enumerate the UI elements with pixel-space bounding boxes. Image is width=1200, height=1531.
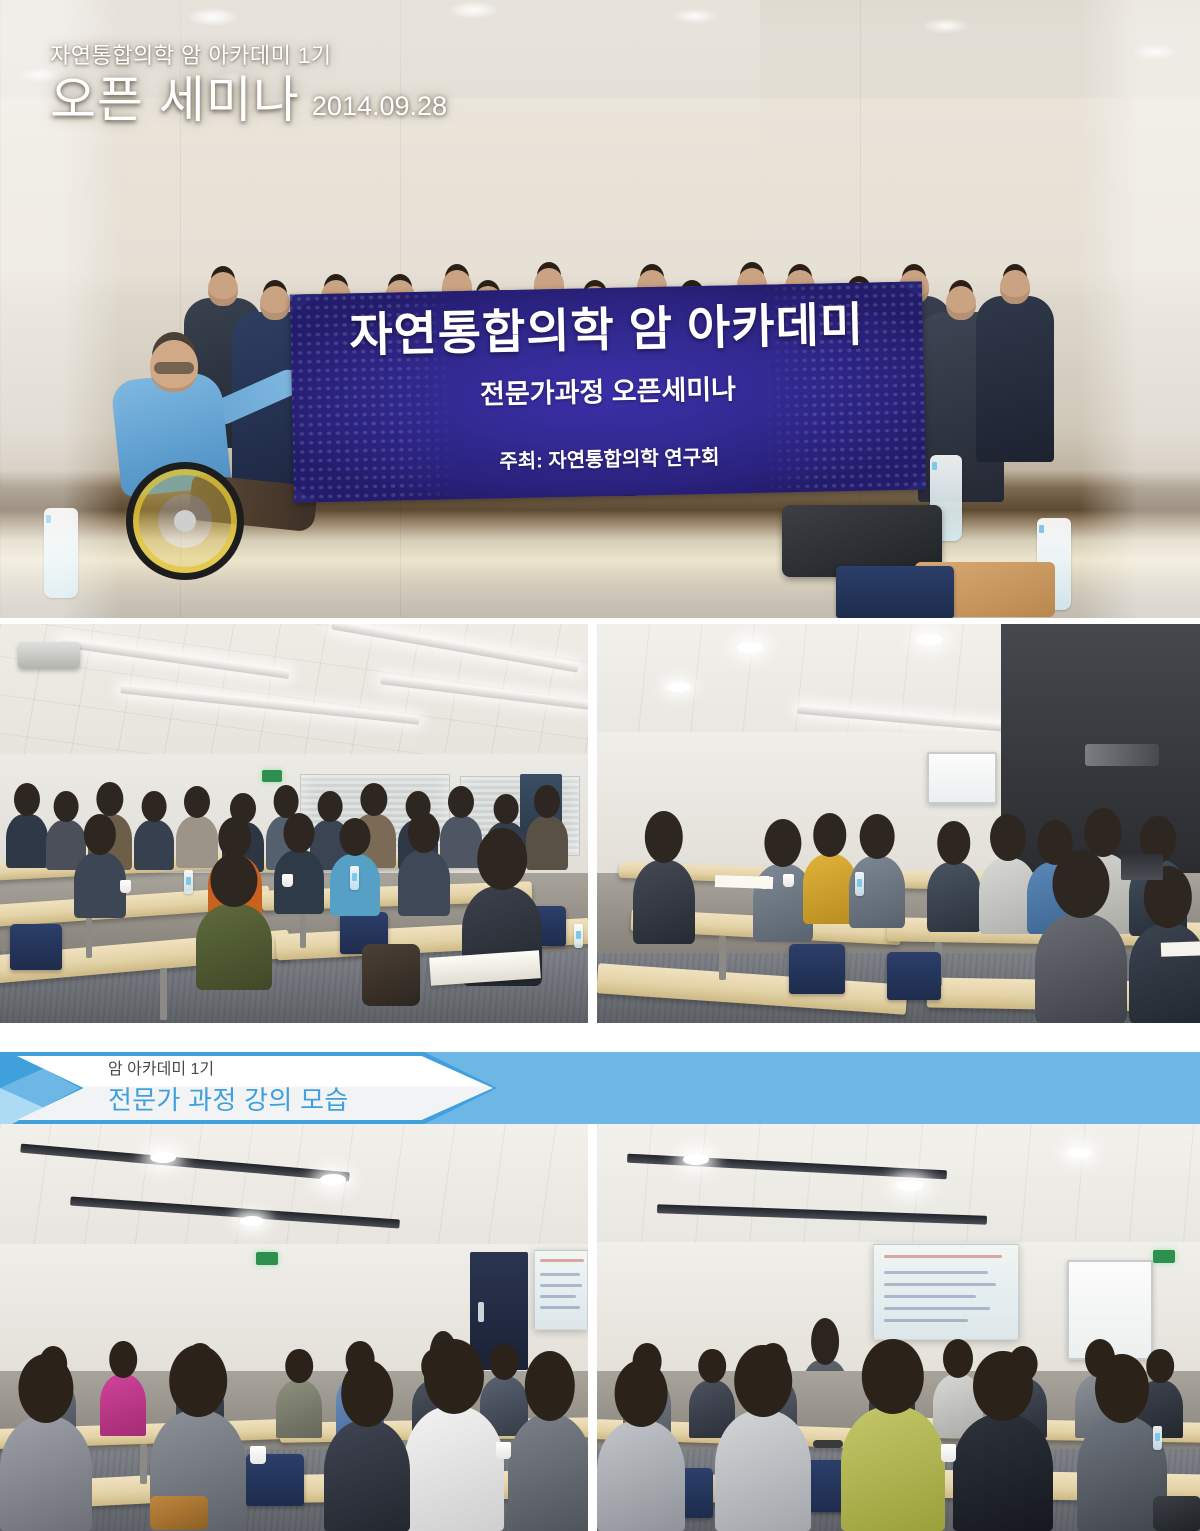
- photo-row-2: [0, 624, 1200, 1023]
- desk-leg: [140, 1444, 147, 1484]
- desk-leg: [86, 916, 92, 958]
- ceiling-downlight: [683, 1154, 709, 1165]
- photo-audience-right: [597, 624, 1200, 1023]
- exit-sign: [1153, 1250, 1175, 1263]
- notebook: [715, 875, 773, 889]
- projector: [18, 642, 80, 668]
- banner-subtitle: 전문가과정 오픈세미나: [480, 367, 737, 411]
- wheelchair-wheel: [126, 462, 244, 580]
- backpack: [362, 944, 420, 1006]
- slide-line: [540, 1295, 576, 1298]
- attendee-in-wheelchair: [104, 330, 304, 600]
- water-bottle: [350, 866, 359, 890]
- wall-logo: [1085, 744, 1159, 766]
- slide-line: [540, 1284, 582, 1287]
- divider-kicker: 암 아카데미 1기: [108, 1061, 349, 1079]
- paper-cup: [941, 1444, 956, 1462]
- hero-photo-group: 자연통합의학 암 아카데미 전문가과정 오픈세미나 주최: 자연통합의학 연구회…: [0, 0, 1200, 618]
- audience-member-foreground: [597, 1420, 685, 1531]
- divider-text-block: 암 아카데미 1기 전문가 과정 강의 모습: [108, 1052, 349, 1124]
- audience-member-foreground: [1035, 914, 1127, 1023]
- chair: [887, 952, 941, 1000]
- ceiling-downlight: [150, 1152, 176, 1163]
- exit-sign: [256, 1252, 278, 1265]
- slide-line: [540, 1259, 584, 1262]
- handbag: [150, 1496, 208, 1530]
- banner-host: 주최: 자연통합의학 연구회: [499, 441, 720, 475]
- notebook: [1161, 941, 1200, 957]
- chair: [10, 924, 62, 970]
- ceiling-downlight: [917, 634, 943, 645]
- audience-member-foreground: [953, 1414, 1053, 1531]
- desk-leg: [300, 912, 306, 948]
- ceiling-downlight: [737, 642, 763, 653]
- door-handle: [478, 1302, 484, 1322]
- paper-cup: [120, 880, 131, 893]
- audience-member: [100, 1374, 146, 1436]
- paper-cup: [282, 874, 293, 887]
- divider-title: 전문가 과정 강의 모습: [108, 1086, 349, 1115]
- audience-member-foreground: [715, 1410, 811, 1531]
- photo-lecture-right: [597, 1124, 1200, 1531]
- event-date: 2014.09.28: [312, 91, 447, 127]
- audience-member: [927, 862, 981, 932]
- hero-title-block: 자연통합의학 암 아카데미 1기 오픈 세미나 2014.09.28: [50, 44, 447, 127]
- paper-cup: [250, 1446, 266, 1464]
- audience-member-foreground: [841, 1406, 945, 1531]
- audience-member-foreground: [508, 1414, 588, 1531]
- audience-member-foreground: [404, 1406, 504, 1531]
- audience-member: [633, 860, 695, 944]
- audience-member: [134, 820, 174, 870]
- slide-line: [884, 1295, 976, 1298]
- water-bottle: [1153, 1426, 1162, 1450]
- audience-member: [440, 816, 482, 868]
- paper-cup: [783, 874, 794, 887]
- desk-leg: [160, 968, 167, 1020]
- chair: [836, 566, 954, 618]
- audience-member: [176, 816, 218, 868]
- hero-kicker: 자연통합의학 암 아카데미 1기: [50, 44, 447, 68]
- ceiling: [0, 1124, 588, 1254]
- ceiling-downlight: [897, 1180, 923, 1191]
- audience-member: [398, 850, 450, 916]
- section-divider: 암 아카데미 1기 전문가 과정 강의 모습: [0, 1052, 1200, 1124]
- exit-sign: [262, 770, 282, 782]
- chair: [789, 944, 845, 994]
- water-bottle: [855, 872, 864, 896]
- slide-line: [884, 1283, 996, 1286]
- water-bottle: [574, 924, 583, 948]
- slide-line: [884, 1319, 968, 1322]
- bag: [1153, 1496, 1200, 1531]
- audience-member: [74, 852, 126, 918]
- audience-member-foreground: [324, 1420, 410, 1531]
- photo-lecture-left: [0, 1124, 588, 1531]
- projection-screen: [873, 1244, 1019, 1340]
- paper-cup: [496, 1442, 511, 1459]
- slide-line: [540, 1306, 580, 1309]
- eyeglasses: [813, 1440, 843, 1448]
- slide-line: [540, 1273, 580, 1276]
- desk-leg: [719, 936, 726, 980]
- water-bottle: [44, 508, 78, 598]
- banner-title: 자연통합의학 암 아카데미: [349, 301, 865, 359]
- slide-line: [884, 1271, 988, 1274]
- laptop: [1121, 854, 1163, 880]
- ceiling-downlight: [1067, 1148, 1091, 1158]
- audience-member: [6, 814, 48, 868]
- photo-row-3: [0, 1124, 1200, 1531]
- ceiling-downlight: [240, 1216, 264, 1226]
- audience-member-foreground: [0, 1416, 92, 1531]
- person: [976, 296, 1054, 462]
- head-with-glasses: [150, 340, 198, 392]
- projection-screen: [534, 1250, 588, 1330]
- page-title: 오픈 세미나: [50, 74, 300, 127]
- water-bottle: [184, 870, 193, 894]
- photo-report-page: 자연통합의학 암 아카데미 전문가과정 오픈세미나 주최: 자연통합의학 연구회…: [0, 0, 1200, 1531]
- slide-line: [884, 1255, 1002, 1258]
- audience-member: [526, 816, 568, 870]
- event-banner: 자연통합의학 암 아카데미 전문가과정 오픈세미나 주최: 자연통합의학 연구회: [290, 281, 926, 502]
- audience-member-foreground: [1129, 924, 1200, 1023]
- audience-member: [276, 1380, 322, 1438]
- slide-line: [884, 1307, 990, 1310]
- whiteboard: [927, 752, 997, 804]
- audience-member: [196, 904, 272, 990]
- ceiling-downlight: [320, 1174, 346, 1185]
- ceiling-downlight: [667, 682, 691, 692]
- photo-audience-left: [0, 624, 588, 1023]
